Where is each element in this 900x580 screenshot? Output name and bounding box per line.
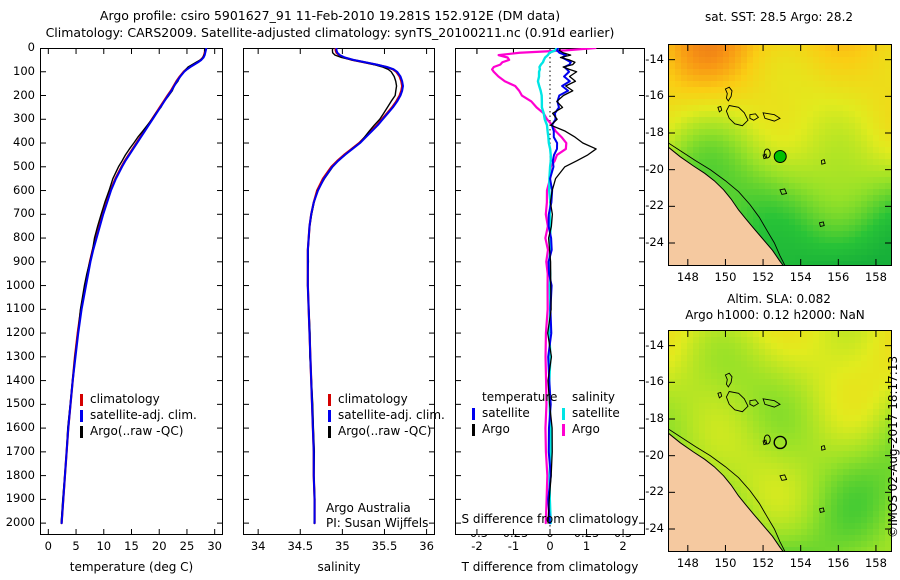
sst-latitude-tick-label: -18 [638,125,664,139]
depth-tick-label: 0 [0,40,35,54]
salinity-axis-label: salinity [243,560,435,574]
salinity-annotation-line1: Argo Australia [326,501,411,515]
temperature-legend-label: climatology [90,392,160,406]
temperature-legend-label: satellite-adj. clim. [90,408,197,422]
sla-latitude-tick-label: -16 [638,374,664,388]
sst-longitude-tick-label: 148 [670,270,706,284]
salinity-annotation-line2: PI: Susan Wijffels [326,516,428,530]
salinity-legend-swatch [328,426,331,438]
sla-longitude-tick-label: 148 [670,556,706,570]
sst-map [668,44,892,266]
difference-legend-swatch [562,408,565,420]
sst-latitude-tick-label: -14 [638,52,664,66]
temperature-tick-label: 5 [61,539,91,553]
depth-tick-label: 1900 [0,491,35,505]
sla-map-title-line2: Argo h1000: 0.12 h2000: NaN [650,308,900,322]
difference-legend-label: Argo [572,422,600,436]
difference-legend-heading-temperature: temperature [482,390,557,404]
sla-longitude-tick-label: 158 [858,556,894,570]
difference-salinity-axis-label: S difference from climatology [455,512,645,526]
temperature-panel-plot [40,48,223,535]
salinity-legend-label: Argo(..raw -QC) [338,424,431,438]
sst-longitude-tick-label: 154 [783,270,819,284]
depth-tick-label: 100 [0,64,35,78]
salinity-tick-label: 34.5 [278,539,322,553]
depth-tick-label: 500 [0,159,35,173]
temperature-axis-label: temperature (deg C) [40,560,223,574]
difference-legend-swatch [472,424,475,436]
salinity-legend-swatch [328,410,331,422]
depth-tick-label: 1300 [0,349,35,363]
salinity-tick-label: 35.5 [362,539,406,553]
temperature-legend-swatch [80,410,83,422]
sla-longitude-tick-label: 156 [820,556,856,570]
depth-tick-label: 1600 [0,420,35,434]
sla-latitude-tick-label: -22 [638,484,664,498]
difference-temperature-axis-label: T difference from climatology [455,560,645,574]
sst-latitude-tick-label: -22 [638,198,664,212]
temperature-tick-label: 0 [33,539,63,553]
salinity-tick-label: 36 [405,539,449,553]
temperature-tick-label: 20 [144,539,174,553]
salinity-legend-swatch [328,394,331,406]
temperature-legend-label: Argo(..raw -QC) [90,424,183,438]
difference-legend-label: satellite [572,406,620,420]
sla-longitude-tick-label: 152 [745,556,781,570]
difference-temperature-tick-label: -1 [497,539,529,553]
copyright-label: ©IMOS 02-Aug-2017 18:17:13 [886,356,900,538]
sla-latitude-tick-label: -18 [638,411,664,425]
sla-latitude-tick-label: -24 [638,521,664,535]
difference-temperature-tick-label: 2 [607,539,639,553]
salinity-tick-label: 35 [320,539,364,553]
sst-longitude-tick-label: 158 [858,270,894,284]
sst-latitude-tick-label: -20 [638,162,664,176]
depth-tick-label: 1700 [0,444,35,458]
salinity-legend-label: satellite-adj. clim. [338,408,445,422]
depth-tick-label: 1500 [0,396,35,410]
depth-tick-label: 2000 [0,515,35,529]
temperature-tick-label: 10 [89,539,119,553]
depth-tick-label: 700 [0,206,35,220]
sst-latitude-tick-label: -16 [638,88,664,102]
sst-longitude-tick-label: 150 [707,270,743,284]
depth-tick-label: 1100 [0,301,35,315]
difference-temperature-tick-label: 1 [571,539,603,553]
sla-latitude-tick-label: -14 [638,338,664,352]
sla-longitude-tick-label: 150 [707,556,743,570]
temperature-tick-label: 25 [172,539,202,553]
temperature-tick-label: 15 [117,539,147,553]
difference-legend-label: satellite [482,406,530,420]
depth-tick-label: 800 [0,230,35,244]
depth-tick-label: 1200 [0,325,35,339]
difference-legend-label: Argo [482,422,510,436]
depth-tick-label: 600 [0,183,35,197]
sst-longitude-tick-label: 152 [745,270,781,284]
temperature-tick-label: 30 [200,539,230,553]
depth-tick-label: 900 [0,254,35,268]
sst-longitude-tick-label: 156 [820,270,856,284]
difference-temperature-tick-label: -2 [461,539,493,553]
sla-map [668,330,892,552]
depth-tick-label: 1800 [0,468,35,482]
sst-latitude-tick-label: -24 [638,235,664,249]
sla-longitude-tick-label: 154 [783,556,819,570]
salinity-tick-label: 34 [236,539,280,553]
depth-tick-label: 1400 [0,373,35,387]
page-title-line2: Climatology: CARS2009. Satellite-adjuste… [0,25,660,40]
difference-legend-swatch [562,424,565,436]
salinity-panel-plot [243,48,435,535]
temperature-legend-swatch [80,426,83,438]
difference-legend-swatch [472,408,475,420]
salinity-legend-label: climatology [338,392,408,406]
sst-map-title: sat. SST: 28.5 Argo: 28.2 [660,10,898,24]
sla-latitude-tick-label: -20 [638,448,664,462]
difference-legend-heading-salinity: salinity [572,390,615,404]
depth-tick-label: 200 [0,88,35,102]
depth-tick-label: 300 [0,111,35,125]
sla-map-title-line1: Altim. SLA: 0.082 [660,292,898,306]
difference-panel-plot [455,48,645,535]
temperature-legend-swatch [80,394,83,406]
difference-temperature-tick-label: 0 [534,539,566,553]
depth-tick-label: 1000 [0,278,35,292]
depth-tick-label: 400 [0,135,35,149]
page-title-line1: Argo profile: csiro 5901627_91 11-Feb-20… [0,8,660,23]
